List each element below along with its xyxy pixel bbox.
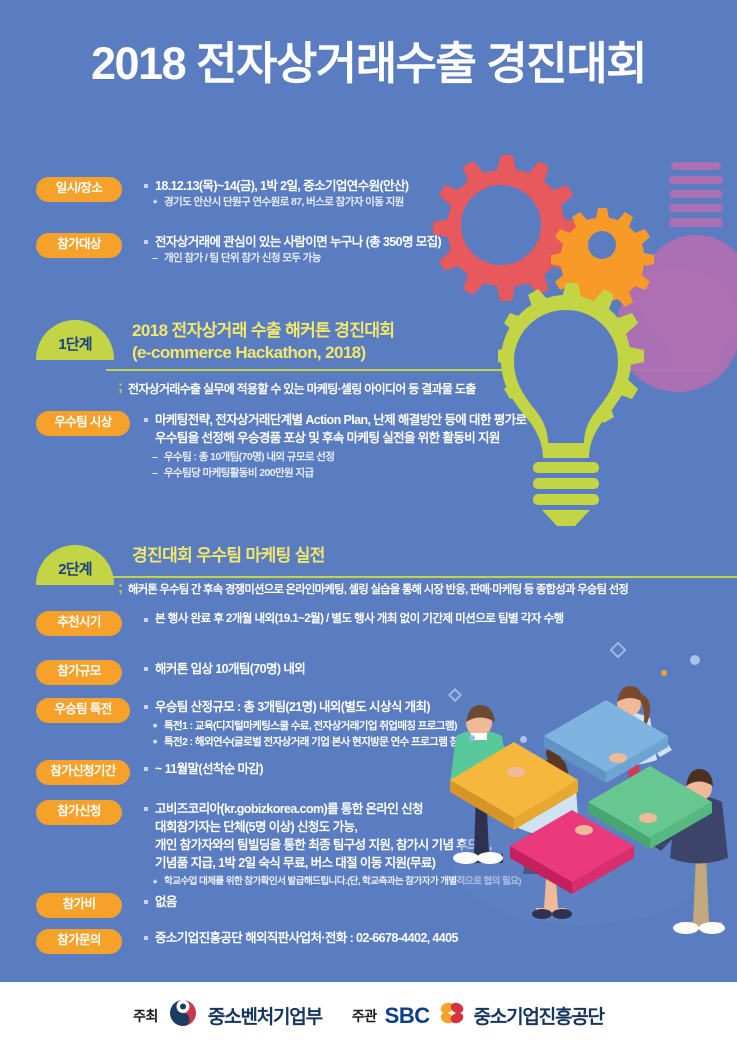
host-name: 중소벤처기업부	[208, 1002, 322, 1029]
stage-2-title: 경진대회 우수팀 마케팅 실전	[132, 545, 716, 567]
badge-fee[interactable]: 참가비	[36, 893, 122, 918]
stage-2-rule	[106, 576, 737, 578]
stage-2-badge-label: 2단계	[58, 558, 92, 579]
organizer-name: 중소기업진흥공단	[474, 1002, 604, 1029]
stage2-row-scale: 참가규모 해커톤 입상 10개팀(70명) 내외	[36, 660, 305, 685]
orange-gear-hole	[588, 231, 616, 259]
apply-period-text: ~ 11월말(선착순 마감)	[144, 760, 263, 778]
badge-award[interactable]: 우수팀 시상	[36, 411, 130, 436]
stage-1-badge-label: 1단계	[58, 333, 92, 354]
stage2-row-benefits: 우승팀 특전 우승팀 산정규모 : 총 3개팀(21명) 내외(별도 시상식 개…	[36, 698, 489, 751]
decor-dot-1	[690, 655, 700, 665]
fee-lead: 없음	[144, 893, 177, 911]
footer-bar: 주최 중소벤처기업부 주관 SBC	[0, 982, 737, 1049]
decor-dot-2	[520, 736, 527, 743]
stage-2-title-line1: 경진대회 우수팀 마케팅 실전	[132, 545, 716, 567]
badge-datetime[interactable]: 일시/장소	[36, 177, 122, 202]
badge-benefits[interactable]: 우승팀 특전	[36, 698, 130, 723]
apply-period-lead: ~ 11월말(선착순 마감)	[144, 760, 263, 778]
poster-root: 2018 전자상거래수출 경진대회	[0, 0, 737, 1049]
teamwork-puzzle-illustration	[432, 640, 737, 985]
fee-text: 없음	[144, 893, 177, 911]
period-text: 본 행사 완료 후 2개월 내외(19.1~2월) / 별도 행사 개최 없이 …	[144, 611, 564, 628]
stage-1-badge: 1단계	[36, 320, 114, 360]
info-text-datetime: 18.12.13(목)~14(금), 1박 2일, 중소기업연수원(안산) 경기…	[144, 177, 408, 211]
scale-lead: 해커톤 입상 10개팀(70명) 내외	[144, 660, 305, 678]
info-sub-audience: 개인 참가 / 팀 단위 참가 신청 모두 가능	[144, 251, 441, 267]
stage-2-section: 2단계 경진대회 우수팀 마케팅 실전 해커톤 우수팀 간 후속 경쟁미션으로 …	[36, 545, 716, 597]
sbc-wordmark: SBC	[385, 1003, 430, 1029]
badge-apply[interactable]: 참가신청	[36, 800, 122, 825]
info-lead-datetime: 18.12.13(목)~14(금), 1박 2일, 중소기업연수원(안산)	[144, 177, 408, 195]
stage-2-badge: 2단계	[36, 545, 114, 585]
stage-2-description: 해커톤 우수팀 간 후속 경쟁미션으로 온라인마케팅, 셀링 실습을 통해 시장…	[116, 581, 716, 597]
host-group: 주최 중소벤처기업부	[133, 998, 322, 1033]
badge-scale[interactable]: 참가규모	[36, 660, 122, 685]
page-title: 2018 전자상거래수출 경진대회	[0, 40, 737, 87]
decor-dot-3	[469, 735, 475, 741]
stage2-row-contact: 참가문의 중소기업진흥공단 해외직판사업처·전화 : 02-6678-4402,…	[36, 929, 458, 954]
scale-text: 해커톤 입상 10개팀(70명) 내외	[144, 660, 305, 678]
gears-lightbulb-illustration	[420, 140, 737, 540]
organizer-label: 주관	[352, 1006, 377, 1026]
badge-contact[interactable]: 참가문의	[36, 929, 122, 954]
sbc-flower-icon	[438, 1000, 466, 1031]
info-lead-audience: 전자상거래에 관심이 있는 사람이면 누구나 (총 350명 모집)	[144, 233, 441, 251]
info-text-audience: 전자상거래에 관심이 있는 사람이면 누구나 (총 350명 모집) 개인 참가…	[144, 233, 441, 267]
info-row-datetime: 일시/장소 18.12.13(목)~14(금), 1박 2일, 중소기업연수원(…	[36, 177, 408, 211]
badge-period[interactable]: 추천시기	[36, 611, 122, 636]
red-gear-hole	[461, 185, 541, 265]
korea-government-taegeuk-icon	[168, 998, 198, 1033]
decor-dot-4	[661, 670, 667, 676]
contact-text: 중소기업진흥공단 해외직판사업처·전화 : 02-6678-4402, 4405	[144, 929, 458, 947]
badge-apply-period[interactable]: 참가신청기간	[36, 760, 130, 785]
green-bulb-inner	[514, 310, 618, 443]
contact-lead: 중소기업진흥공단 해외직판사업처·전화 : 02-6678-4402, 4405	[144, 929, 458, 947]
host-label: 주최	[133, 1006, 158, 1026]
organizer-group: 주관 SBC 중소기업진흥공단	[352, 1000, 604, 1031]
stage2-row-period: 추천시기 본 행사 완료 후 2개월 내외(19.1~2월) / 별도 행사 개…	[36, 611, 564, 636]
poster-title-area: 2018 전자상거래수출 경진대회	[0, 40, 737, 87]
stage2-row-apply-period: 참가신청기간 ~ 11월말(선착순 마감)	[36, 760, 263, 785]
period-lead: 본 행사 완료 후 2개월 내외(19.1~2월) / 별도 행사 개최 없이 …	[144, 611, 564, 628]
badge-audience[interactable]: 참가대상	[36, 233, 122, 258]
info-row-audience: 참가대상 전자상거래에 관심이 있는 사람이면 누구나 (총 350명 모집) …	[36, 233, 441, 267]
stage2-row-fee: 참가비 없음	[36, 893, 177, 918]
info-sub-datetime: 경기도 안산시 단원구 연수원로 87, 버스로 참가자 이동 지원	[144, 195, 408, 211]
